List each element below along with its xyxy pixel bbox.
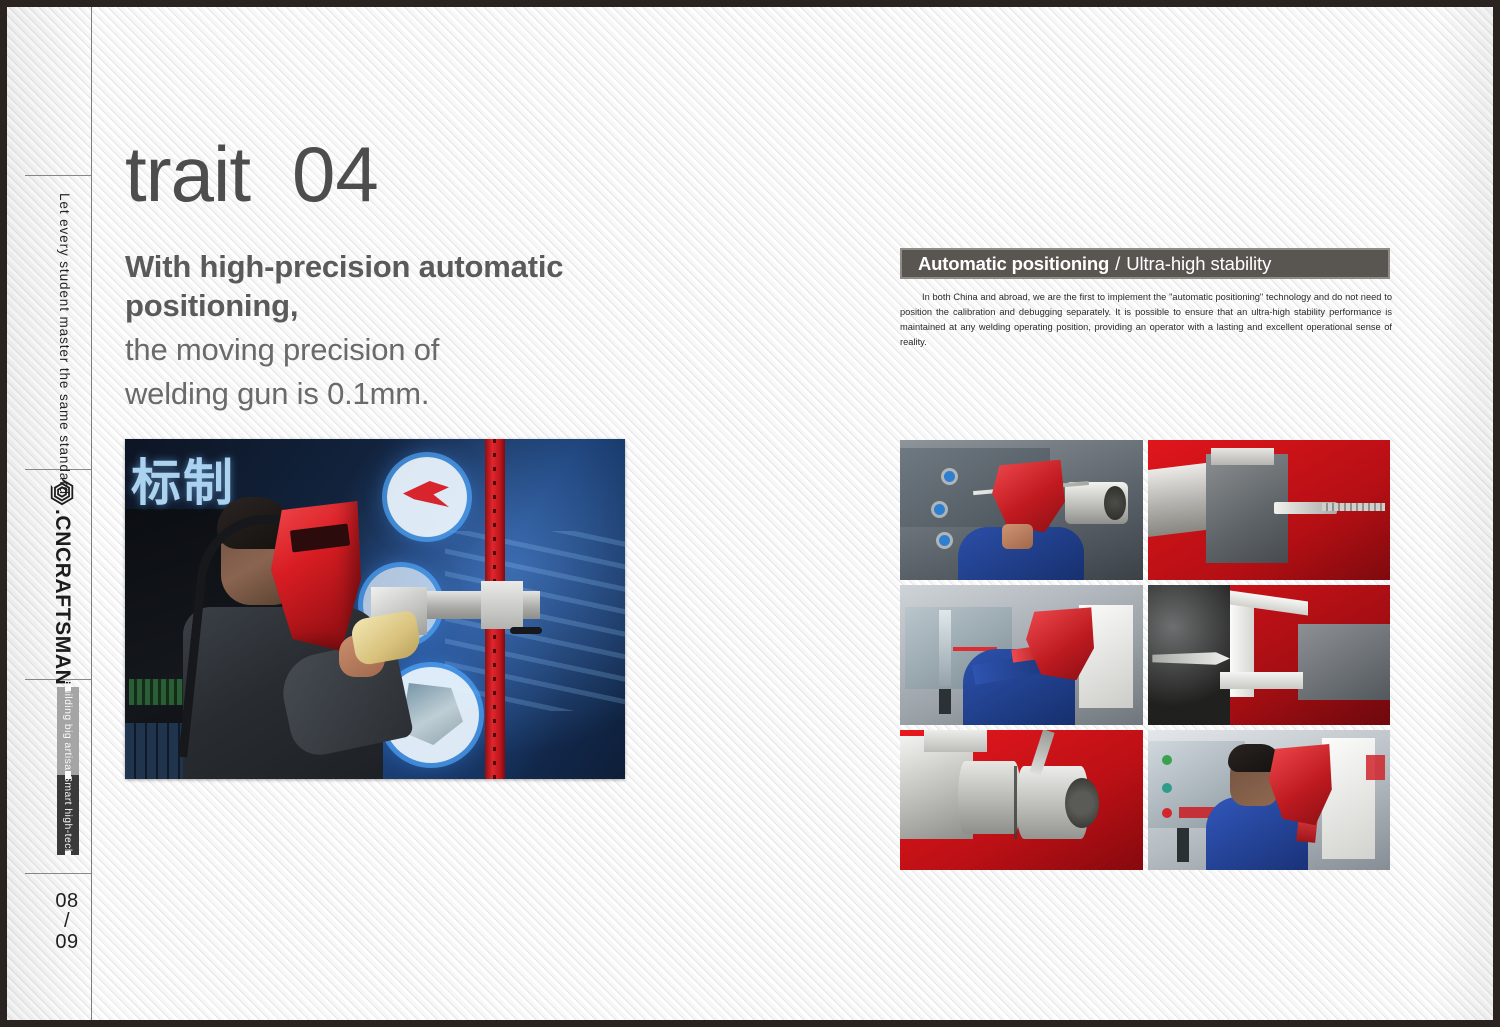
hero-photo: 标制 <box>125 439 625 779</box>
badge-nub-top <box>65 775 71 779</box>
spine-tagline: Let every student master the same standa… <box>57 193 72 495</box>
grid-photo-1 <box>900 440 1143 580</box>
grid-photo-6 <box>1148 730 1391 870</box>
headline: With high-precision automatic positionin… <box>125 247 665 326</box>
spine-badges: Building big artisans Smart high-tech <box>57 687 79 855</box>
g6-monitor-stand <box>1177 828 1189 862</box>
hero-green-strip <box>129 679 185 705</box>
g6-red-glyph <box>1366 755 1385 780</box>
g1-pipe-bore <box>1104 486 1126 520</box>
g4-beam-flange <box>1220 672 1302 689</box>
g5-clamp <box>924 730 987 752</box>
photo-grid <box>900 440 1390 870</box>
page-spine: Let every student master the same standa… <box>7 7 92 1020</box>
g1-indicator-1 <box>944 471 955 482</box>
hero-black-knob <box>510 627 542 634</box>
hero-bubble-1 <box>387 457 467 537</box>
hero-rail-lines <box>445 531 625 711</box>
g5-weld-seam <box>1014 766 1017 839</box>
badge-label: Smart high-tech <box>62 775 74 855</box>
badge-building-big-artisans: Building big artisans <box>57 687 79 775</box>
grid-photo-2 <box>1148 440 1391 580</box>
trait-title-line: trait 04 <box>125 137 725 211</box>
band-title-strong: Automatic positioning <box>918 253 1109 275</box>
trait-word: trait <box>125 137 250 211</box>
section-band: Automatic positioning / Ultra-high stabi… <box>900 248 1390 279</box>
left-text-column: trait 04 With high-precision automatic p… <box>125 137 725 414</box>
brand-block: .CNCRAFTSMAN <box>47 477 77 685</box>
grid-photo-3 <box>900 585 1143 725</box>
right-text-column: Automatic positioning / Ultra-high stabi… <box>900 248 1390 350</box>
brand-name: .CNCRAFTSMAN <box>50 509 74 685</box>
g1-hand <box>1002 524 1034 549</box>
folio-total: 09 <box>47 932 87 952</box>
g5-cylinder-bore <box>1065 778 1099 828</box>
folio-separator: / <box>47 911 87 931</box>
band-title-light: Ultra-high stability <box>1126 253 1271 275</box>
trait-number: 04 <box>292 137 379 211</box>
g5-cylinder-left <box>958 761 1021 834</box>
badge-smart-high-tech: Smart high-tech <box>57 775 79 855</box>
band-separator: / <box>1115 253 1120 275</box>
g1-indicator-3 <box>939 535 950 546</box>
g2-plate-cap <box>1211 448 1274 465</box>
badge-nub-top <box>65 687 71 691</box>
badge-label: Building big artisans <box>62 680 74 782</box>
grid-photo-5 <box>900 730 1143 870</box>
folio-current: 08 <box>47 891 87 911</box>
hex-spiral-logo-icon <box>47 477 77 507</box>
spine-divider-4 <box>25 873 91 874</box>
spine-divider-1 <box>25 175 91 176</box>
subline-1: the moving precision of <box>125 330 725 370</box>
hero-poster-text: 标制 <box>131 443 321 515</box>
hero-arm-block <box>481 581 523 629</box>
grid-photo-4 <box>1148 585 1391 725</box>
subline-2: welding gun is 0.1mm. <box>125 374 725 414</box>
g3-monitor-seam <box>939 610 951 686</box>
g2-threaded-rod <box>1322 503 1385 511</box>
body-paragraph: In both China and abroad, we are the fir… <box>900 290 1392 350</box>
badge-nub-bottom <box>65 851 71 855</box>
brochure-page: Let every student master the same standa… <box>0 0 1500 1027</box>
g4-gray-block <box>1298 624 1390 700</box>
page-folio: 08 / 09 <box>47 891 87 952</box>
hero-panel-grid <box>125 723 183 779</box>
g3-monitor-stand <box>939 689 951 714</box>
